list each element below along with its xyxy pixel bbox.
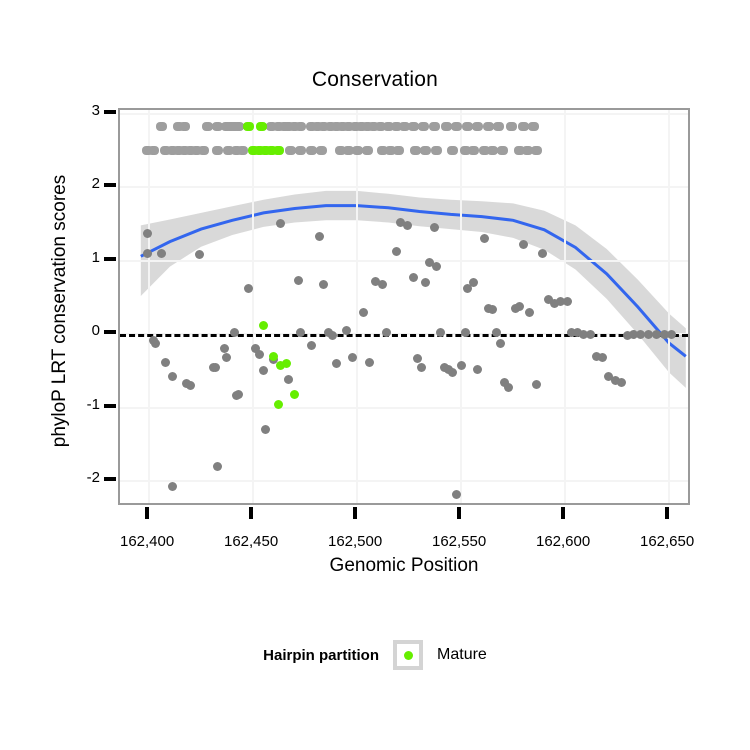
x-axis-tick-label: 162,500 [295, 533, 415, 550]
x-axis-tick [561, 507, 565, 519]
gridline-horizontal [120, 186, 688, 188]
gridline-vertical [356, 110, 358, 503]
gridline-vertical [148, 110, 150, 503]
y-axis-tick [104, 183, 116, 187]
rug-mark-other [468, 146, 479, 155]
scatter-point-other [563, 297, 572, 306]
rug-mark-mature [256, 122, 267, 131]
scatter-point-other [586, 330, 595, 339]
gridline-horizontal [120, 260, 688, 262]
rug-mark-other [352, 146, 363, 155]
rug-mark-other [408, 122, 419, 131]
scatter-point-other [195, 250, 204, 259]
scatter-point-other [161, 358, 170, 367]
trend-overlay [120, 110, 692, 507]
scatter-point-other [143, 229, 152, 238]
scatter-point-other [436, 328, 445, 337]
scatter-point-other [157, 249, 166, 258]
y-axis-title: phyloP LRT conservation scores [49, 101, 71, 521]
scatter-point-other [617, 378, 626, 387]
rug-mark-other [393, 146, 404, 155]
rug-mark-other [306, 146, 317, 155]
gridline-horizontal [120, 407, 688, 409]
scatter-point-mature [259, 321, 268, 330]
rug-mark-other [237, 146, 248, 155]
scatter-point-other [417, 363, 426, 372]
scatter-point-other [480, 234, 489, 243]
scatter-point-other [382, 328, 391, 337]
rug-mark-other [483, 122, 494, 131]
legend: Hairpin partition Mature [0, 640, 750, 670]
scatter-point-other [457, 361, 466, 370]
scatter-point-other [430, 223, 439, 232]
scatter-point-other [296, 328, 305, 337]
rug-mark-other [362, 146, 373, 155]
scatter-point-other [365, 358, 374, 367]
gridline-vertical [564, 110, 566, 503]
rug-mark-other [295, 146, 306, 155]
rug-mark-mature [273, 146, 284, 155]
legend-marker-mature [404, 651, 413, 660]
rug-mark-other [156, 122, 167, 131]
scatter-point-other [461, 328, 470, 337]
y-axis-tick-label: -2 [60, 469, 100, 486]
scatter-point-other [168, 372, 177, 381]
x-axis-tick [353, 507, 357, 519]
y-axis-tick [104, 404, 116, 408]
scatter-point-other [496, 339, 505, 348]
legend-label-mature: Mature [437, 646, 487, 664]
scatter-point-other [667, 330, 676, 339]
rug-mark-other [497, 146, 508, 155]
rug-mark-other [285, 146, 296, 155]
x-axis-tick-label: 162,400 [87, 533, 207, 550]
legend-key-mature[interactable] [393, 640, 423, 670]
scatter-point-other [519, 240, 528, 249]
scatter-point-other [307, 341, 316, 350]
scatter-point-other [211, 363, 220, 372]
rug-mark-other [179, 122, 190, 131]
rug-mark-other [487, 146, 498, 155]
rug-mark-other [493, 122, 504, 131]
gridline-vertical [668, 110, 670, 503]
y-axis-tick [104, 257, 116, 261]
zero-reference-line [120, 334, 688, 337]
scatter-point-other [220, 344, 229, 353]
scatter-point-other [168, 482, 177, 491]
scatter-point-other [403, 221, 412, 230]
rug-mark-other [212, 146, 223, 155]
chart-title: Conservation [0, 68, 750, 92]
x-axis-tick-label: 162,600 [503, 533, 623, 550]
rug-mark-other [148, 146, 159, 155]
y-axis-tick-label: 1 [60, 249, 100, 266]
scatter-point-other [234, 390, 243, 399]
x-axis-tick [249, 507, 253, 519]
rug-mark-other [410, 146, 421, 155]
gridline-horizontal [120, 480, 688, 482]
x-axis-tick-label: 162,550 [399, 533, 519, 550]
x-axis-tick [665, 507, 669, 519]
rug-mark-other [429, 122, 440, 131]
scatter-point-other [328, 331, 337, 340]
rug-mark-other [316, 146, 327, 155]
y-axis-tick-label: 0 [60, 322, 100, 339]
scatter-point-other [409, 273, 418, 282]
y-axis-tick [104, 330, 116, 334]
x-axis-tick-label: 162,450 [191, 533, 311, 550]
rug-mark-other [531, 146, 542, 155]
scatter-point-other [432, 262, 441, 271]
plot-panel [118, 108, 690, 505]
rug-mark-other [198, 146, 209, 155]
scatter-point-other [359, 308, 368, 317]
scatter-point-other [143, 249, 152, 258]
scatter-point-other [230, 328, 239, 337]
y-axis-tick-label: 3 [60, 102, 100, 119]
rug-mark-other [418, 122, 429, 131]
scatter-point-mature [282, 359, 291, 368]
x-axis-tick-label: 162,650 [607, 533, 727, 550]
rug-mark-other [420, 146, 431, 155]
rug-mark-other [431, 146, 442, 155]
gridline-horizontal [120, 113, 688, 115]
gridline-vertical [252, 110, 254, 503]
scatter-point-other [538, 249, 547, 258]
rug-mark-other [447, 146, 458, 155]
x-axis-tick [457, 507, 461, 519]
rug-mark-other [518, 122, 529, 131]
rug-mark-other [441, 122, 452, 131]
scatter-point-other [332, 359, 341, 368]
y-axis-tick [104, 477, 116, 481]
scatter-point-other [222, 353, 231, 362]
rug-mark-other [233, 122, 244, 131]
legend-title: Hairpin partition [263, 647, 379, 664]
scatter-point-other [525, 308, 534, 317]
scatter-point-other [413, 354, 422, 363]
gridline-vertical [460, 110, 462, 503]
x-axis-title: Genomic Position [118, 555, 690, 577]
y-axis-tick-label: -1 [60, 396, 100, 413]
scatter-point-other [515, 302, 524, 311]
scatter-point-other [532, 380, 541, 389]
rug-mark-other [462, 122, 473, 131]
rug-mark-other [202, 122, 213, 131]
chart-root: Conservation phyloP LRT conservation sco… [0, 0, 750, 750]
y-axis-tick [104, 110, 116, 114]
y-axis-tick-label: 2 [60, 175, 100, 192]
rug-mark-other [506, 122, 517, 131]
scatter-point-mature [274, 400, 283, 409]
x-axis-tick [145, 507, 149, 519]
